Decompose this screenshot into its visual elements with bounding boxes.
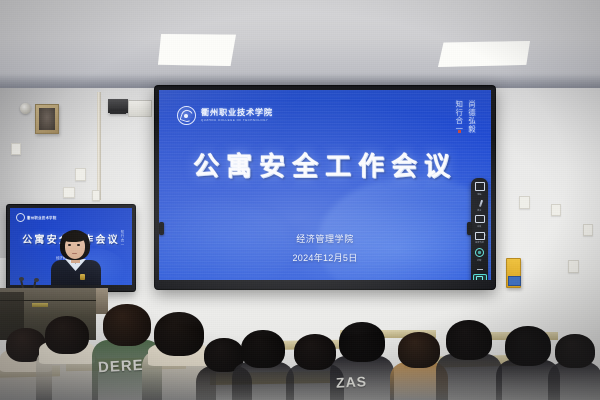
- toolbar-label: 护眼: [477, 258, 481, 262]
- framed-picture: [35, 104, 59, 134]
- presenter-eye: [77, 244, 80, 246]
- screen-icon: [475, 215, 485, 223]
- jacket-text: ZAS: [336, 373, 368, 391]
- audience-member-head: [339, 322, 385, 362]
- slide-title: 公寓安全工作会议: [159, 146, 491, 183]
- seal-stamp-icon: [458, 130, 461, 133]
- audience-member: [436, 320, 502, 400]
- wall-access-panel: [128, 100, 152, 117]
- audience-member-head: [398, 332, 440, 368]
- audience-member: [232, 330, 294, 400]
- university-crest-icon: [16, 213, 25, 222]
- university-name-en: QUZHOU COLLEGE OF TECHNOLOGY: [201, 119, 273, 122]
- display-side-toolbar[interactable]: 电脑 批注 白板 投屏传送 护眼: [471, 178, 488, 280]
- audience-member-head: [45, 316, 89, 354]
- monitor-screen: 衢州职业技术学院 知行合一 公寓安全工作会议 经济管理学院 2024年12月5日: [10, 208, 132, 285]
- audience-member: [36, 316, 98, 400]
- monitor-university-logo: 衢州职业技术学院: [16, 213, 57, 222]
- audience-member: ZAS: [330, 322, 394, 400]
- jacket-text: DERE: [98, 357, 145, 376]
- toolbar-item-eye-care[interactable]: 护眼: [472, 247, 487, 263]
- university-name-cn: 衢州职业技术学院: [201, 109, 273, 117]
- projector-mount-icon: [108, 99, 128, 113]
- power-socket[interactable]: [568, 260, 579, 273]
- fire-alarm-call-point[interactable]: [506, 258, 521, 288]
- wall-pipe: [97, 92, 101, 200]
- wall-clock-icon: [20, 103, 31, 114]
- university-crest-icon: [177, 106, 196, 125]
- ceiling-light-right: [438, 41, 530, 67]
- mic-head-icon: [19, 277, 24, 281]
- toolbar-item-annotate[interactable]: 批注: [472, 198, 487, 212]
- toolbar-label: 批注: [477, 208, 481, 212]
- university-logo: 衢州职业技术学院 QUZHOU COLLEGE OF TECHNOLOGY: [177, 106, 273, 125]
- mic-head-icon: [34, 278, 39, 282]
- toolbar-label: 电脑: [477, 192, 481, 196]
- power-socket[interactable]: [551, 204, 561, 216]
- toolbar-item-screen-share[interactable]: 投屏传送: [472, 230, 487, 245]
- pen-icon: [479, 200, 483, 207]
- presentation-slide: 衢州职业技术学院 QUZHOU COLLEGE OF TECHNOLOGY 知行…: [159, 90, 491, 280]
- toolbar-item-computer[interactable]: 电脑: [472, 181, 487, 197]
- power-socket[interactable]: [63, 187, 75, 198]
- presenter-eye: [68, 244, 71, 246]
- minimize-icon: [477, 269, 483, 270]
- motto-column-1: 知行合一: [454, 100, 464, 134]
- toolbar-item-minimize[interactable]: [472, 264, 487, 271]
- audience-member-head: [555, 334, 595, 368]
- audience-member-head: [505, 326, 551, 366]
- presenter-figure: [48, 230, 104, 285]
- classroom-scene: 衢州职业技术学院 QUZHOU COLLEGE OF TECHNOLOGY 知行…: [0, 0, 600, 400]
- toolbar-label: 投屏传送: [475, 241, 484, 245]
- monitor-icon: [475, 182, 485, 191]
- cabinet-label-plate: [32, 303, 48, 307]
- active-button-glyph: [476, 276, 483, 280]
- power-socket[interactable]: [583, 224, 593, 236]
- slide-date: 2024年12月5日: [159, 251, 491, 264]
- audience-member-head: [446, 320, 492, 360]
- audience-member-body: [436, 354, 502, 400]
- audience-member: [548, 334, 600, 400]
- power-socket[interactable]: [75, 168, 86, 181]
- slide-swoosh-shape: [318, 177, 491, 280]
- monitor-university-name: 衢州职业技术学院: [27, 215, 57, 220]
- calligraphy-motto: 知行合一 尚德弘毅: [454, 100, 477, 134]
- power-socket[interactable]: [92, 190, 100, 201]
- toolbar-item-whiteboard[interactable]: 白板: [472, 214, 487, 229]
- interactive-flat-panel-display[interactable]: 衢州职业技术学院 QUZHOU COLLEGE OF TECHNOLOGY 知行…: [155, 86, 495, 289]
- power-socket[interactable]: [11, 143, 21, 155]
- audience-member-head: [241, 330, 285, 368]
- power-socket[interactable]: [519, 196, 530, 209]
- screen-edge-handle-left[interactable]: [159, 222, 164, 235]
- screen-edge-handle-right[interactable]: [467, 222, 472, 235]
- slide-department: 经济管理学院: [159, 232, 491, 245]
- camera-icon: [475, 232, 485, 240]
- cabinet-seam: [0, 300, 96, 301]
- toolbar-label: 白板: [477, 224, 481, 228]
- eye-icon: [475, 248, 484, 257]
- toolbar-active-button[interactable]: [473, 274, 487, 280]
- motto-column-2: 尚德弘毅: [467, 100, 477, 134]
- ceiling-light-left: [158, 34, 236, 66]
- presenter-confidence-monitor[interactable]: 衢州职业技术学院 知行合一 公寓安全工作会议 经济管理学院 2024年12月5日: [7, 205, 135, 291]
- presenter-badge: [80, 274, 85, 280]
